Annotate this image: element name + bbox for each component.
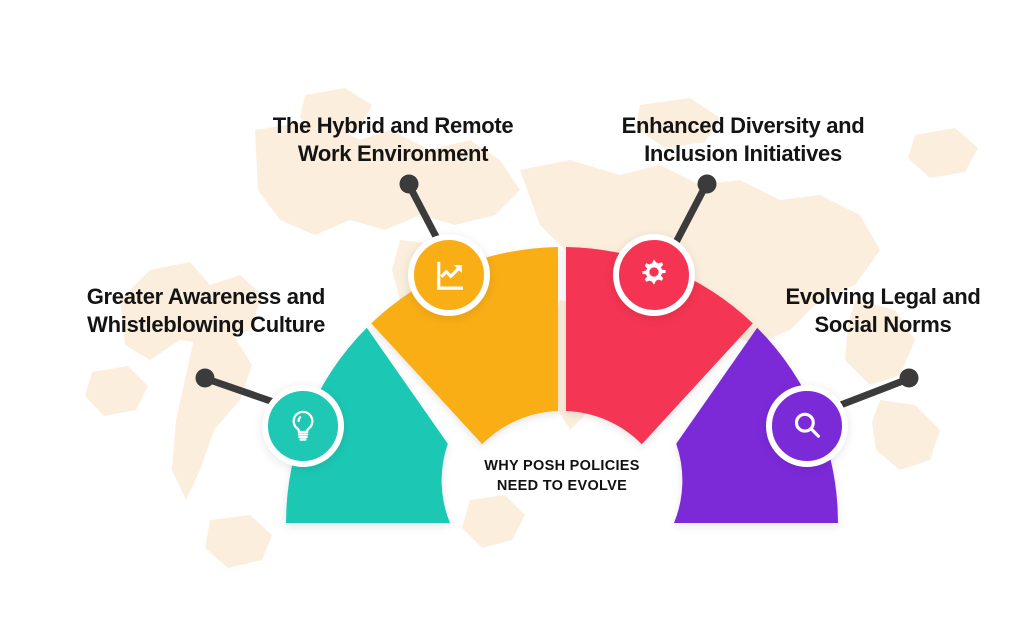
growth-chart-icon (431, 257, 467, 293)
label-legal-line1: Evolving Legal and (785, 284, 980, 309)
center-caption-line1: WHY POSH POLICIES (452, 457, 672, 477)
lightbulb-icon (285, 408, 321, 444)
label-awareness-line2: Whistleblowing Culture (87, 312, 325, 337)
center-caption: WHY POSH POLICIES NEED TO EVOLVE (452, 457, 672, 496)
label-legal-line2: Social Norms (814, 312, 951, 337)
label-hybrid: The Hybrid and Remote Work Environment (228, 112, 558, 168)
badge-hybrid[interactable] (408, 234, 490, 316)
badge-awareness[interactable] (262, 385, 344, 467)
connector-dot-diversity (698, 175, 717, 194)
connector-legal (838, 379, 908, 406)
label-diversity-line1: Enhanced Diversity and (622, 113, 865, 138)
connector-dot-hybrid (400, 175, 419, 194)
center-caption-line2: NEED TO EVOLVE (452, 477, 672, 497)
label-awareness-line1: Greater Awareness and (87, 284, 325, 309)
label-awareness: Greater Awareness and Whistleblowing Cul… (10, 283, 325, 339)
label-legal: Evolving Legal and Social Norms (752, 283, 1014, 339)
label-hybrid-line2: Work Environment (298, 141, 488, 166)
connector-dot-awareness (196, 369, 215, 388)
label-diversity: Enhanced Diversity and Inclusion Initiat… (578, 112, 908, 168)
connector-dot-legal (900, 369, 919, 388)
label-hybrid-line1: The Hybrid and Remote (273, 113, 514, 138)
badge-diversity[interactable] (613, 234, 695, 316)
gear-icon (636, 257, 672, 293)
search-icon (789, 408, 825, 444)
label-diversity-line2: Inclusion Initiatives (644, 141, 842, 166)
badge-legal[interactable] (766, 385, 848, 467)
infographic-canvas: Greater Awareness and Whistleblowing Cul… (0, 0, 1024, 640)
